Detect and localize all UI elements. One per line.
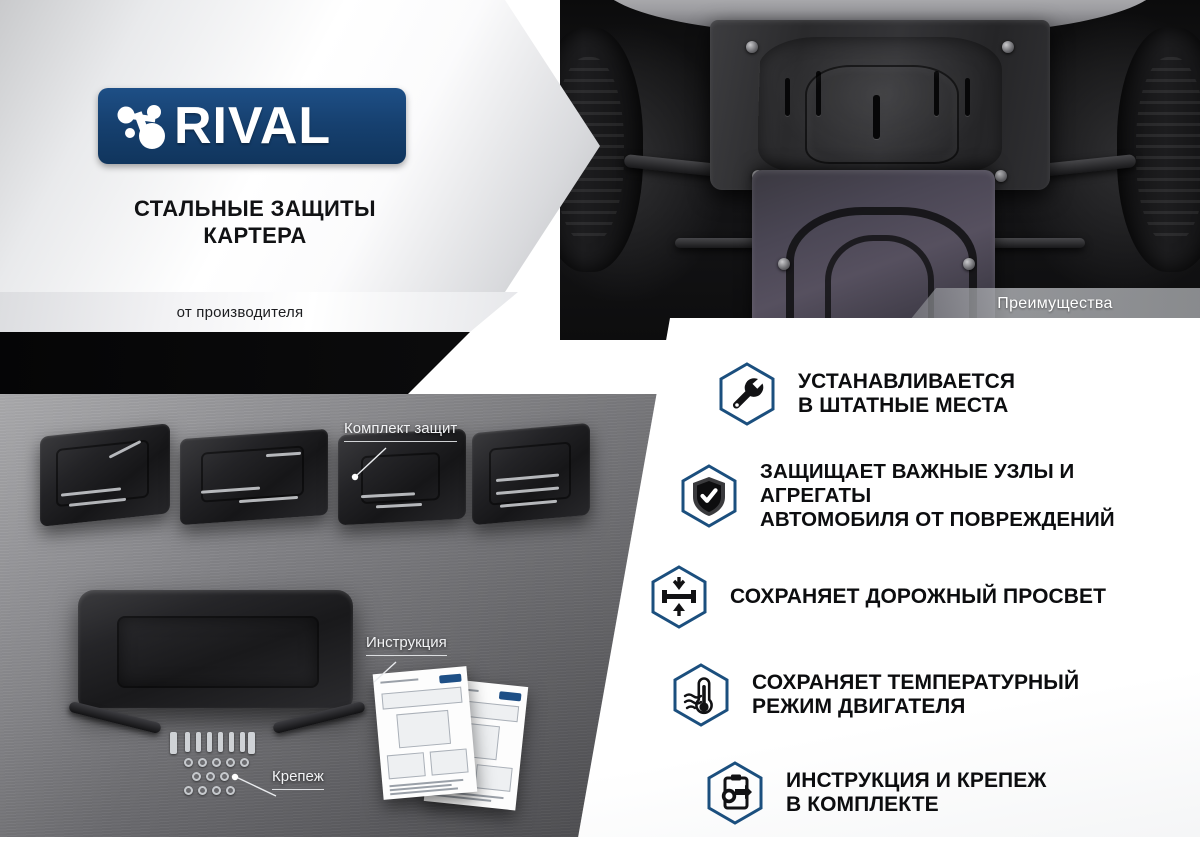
callout-label: Инструкция xyxy=(366,634,447,656)
advantage-item-installation: УСТАНАВЛИВАЕТСЯ В ШТАТНЫЕ МЕСТА xyxy=(718,362,1190,426)
page-title-line2: КАРТЕРА xyxy=(70,223,440,250)
bolt xyxy=(196,732,201,752)
advantage-text: УСТАНАВЛИВАЕТСЯ В ШТАТНЫЕ МЕСТА xyxy=(798,370,1015,419)
product-photo-panel: Комплект защит Инструкция Крепеж xyxy=(0,394,660,849)
washer xyxy=(206,772,215,781)
bottom-white-edge xyxy=(0,837,1200,849)
advantages-list: УСТАНАВЛИВАЕТСЯ В ШТАТНЫЕ МЕСТА ЗАЩИЩАЕТ… xyxy=(680,362,1190,825)
washer xyxy=(212,758,221,767)
callout-label: Комплект защит xyxy=(344,420,457,442)
bracket-strip-left xyxy=(170,732,177,754)
washer xyxy=(240,758,249,767)
page-title: СТАЛЬНЫЕ ЗАЩИТЫ КАРТЕРА xyxy=(70,196,440,250)
skid-plate-4 xyxy=(472,423,590,525)
advantage-item-protection: ЗАЩИЩАЕТ ВАЖНЫЕ УЗЛЫ И АГРЕГАТЫ АВТОМОБИ… xyxy=(680,460,1190,531)
instruction-sheet-front xyxy=(373,666,478,800)
bracket-strip-right xyxy=(248,732,255,754)
skid-bolt xyxy=(778,258,790,270)
skid-plate-1 xyxy=(40,423,170,527)
advantage-item-temperature: СОХРАНЯЕТ ТЕМПЕРАТУРНЫЙ РЕЖИМ ДВИГАТЕЛЯ xyxy=(672,663,1190,727)
skid-bolt xyxy=(1002,41,1014,53)
callout-skid-plate-set: Комплект защит xyxy=(344,420,457,442)
clipboard-bolt-icon xyxy=(706,761,764,825)
header-panel: RIVAL СТАЛЬНЫЕ ЗАЩИТЫ КАРТЕРА xyxy=(0,0,600,292)
dark-divider-band xyxy=(0,332,600,394)
subtitle-ribbon: от производителя xyxy=(0,292,518,332)
thermometer-icon xyxy=(672,663,730,727)
washer xyxy=(192,772,201,781)
skid-bolt xyxy=(746,41,758,53)
advantage-item-kit: ИНСТРУКЦИЯ И КРЕПЕЖ В КОМПЛЕКТЕ xyxy=(706,761,1190,825)
ground-clearance-icon xyxy=(650,565,708,629)
rival-product-poster: Преимущества RIVAL СТАЛЬНЫЕ ЗАЩИТЫ КАРТЕ… xyxy=(0,0,1200,849)
callout-instruction: Инструкция xyxy=(366,634,447,656)
washer xyxy=(212,786,221,795)
bolt xyxy=(229,732,234,752)
bolt xyxy=(240,732,245,752)
washer xyxy=(198,758,207,767)
rival-logo-wordmark: RIVAL xyxy=(174,100,331,152)
shield-check-icon xyxy=(680,464,738,528)
engine-skid-plate-installed xyxy=(710,20,1049,190)
molecule-icon xyxy=(110,95,172,157)
advantage-text: ИНСТРУКЦИЯ И КРЕПЕЖ В КОМПЛЕКТЕ xyxy=(786,769,1046,818)
washer xyxy=(226,758,235,767)
advantage-text: ЗАЩИЩАЕТ ВАЖНЫЕ УЗЛЫ И АГРЕГАТЫ АВТОМОБИ… xyxy=(760,460,1190,531)
bolt xyxy=(185,732,190,752)
bolt xyxy=(218,732,223,752)
callout-leader-line-fasteners xyxy=(222,774,280,800)
subtitle-text: от производителя xyxy=(177,304,342,321)
front-right-tire xyxy=(1117,27,1200,272)
callout-leader-line-set xyxy=(330,446,390,482)
wrench-icon xyxy=(718,362,776,426)
callout-leader-line-instruction xyxy=(352,660,402,686)
bolt xyxy=(207,732,212,752)
washer xyxy=(198,786,207,795)
advantage-text: СОХРАНЯЕТ ТЕМПЕРАТУРНЫЙ РЕЖИМ ДВИГАТЕЛЯ xyxy=(752,671,1079,720)
advantage-text: СОХРАНЯЕТ ДОРОЖНЫЙ ПРОСВЕТ xyxy=(730,585,1106,609)
rival-logo: RIVAL xyxy=(98,88,406,164)
advantages-tab: Преимущества xyxy=(910,288,1200,320)
washer xyxy=(184,786,193,795)
advantage-item-clearance: СОХРАНЯЕТ ДОРОЖНЫЙ ПРОСВЕТ xyxy=(650,565,1190,629)
washer xyxy=(184,758,193,767)
advantages-tab-label: Преимущества xyxy=(997,295,1112,313)
main-skid-plate xyxy=(78,590,353,708)
page-title-line1: СТАЛЬНЫЕ ЗАЩИТЫ xyxy=(70,196,440,223)
skid-plate-2 xyxy=(180,429,328,525)
